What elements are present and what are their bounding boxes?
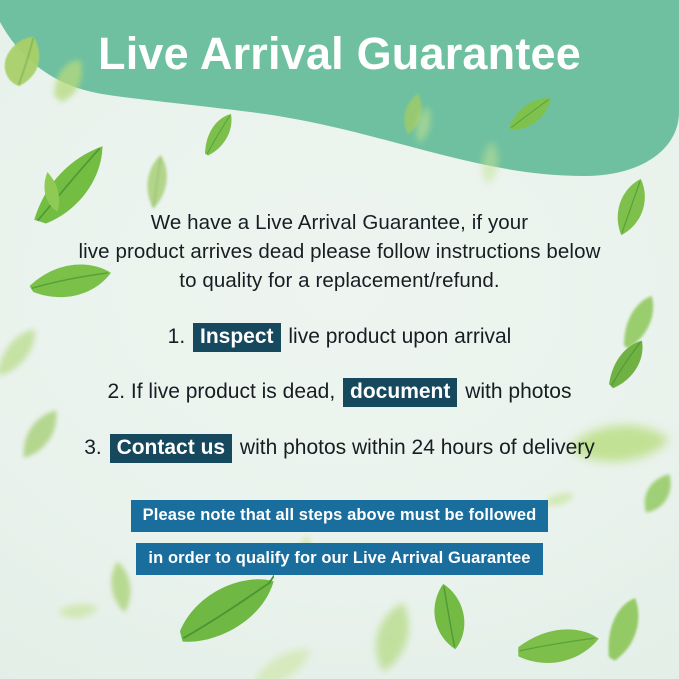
page-title: Live Arrival Guarantee [0, 30, 679, 77]
step-1-keyword: Inspect [193, 323, 281, 352]
step-item-3: 3. Contact us with photos within 24 hour… [30, 434, 649, 463]
content-area: We have a Live Arrival Guarantee, if you… [0, 0, 679, 679]
intro-paragraph: We have a Live Arrival Guarantee, if you… [60, 208, 619, 295]
note-row-2: in order to qualify for our Live Arrival… [0, 543, 679, 575]
step-1-text: live product upon arrival [288, 325, 511, 348]
step-2-number: 2. [108, 380, 126, 403]
live-arrival-guarantee-poster: Live Arrival Guarantee [0, 0, 679, 679]
note-box-2: in order to qualify for our Live Arrival… [136, 543, 542, 575]
step-2-pre-text: If live product is dead, [131, 380, 335, 403]
intro-line-1: We have a Live Arrival Guarantee, if you… [60, 208, 619, 237]
note-box-1: Please note that all steps above must be… [131, 500, 549, 532]
intro-line-3: to quality for a replacement/refund. [60, 266, 619, 295]
step-1-number: 1. [168, 325, 186, 348]
step-2-keyword: document [343, 378, 457, 407]
intro-line-2: live product arrives dead please follow … [60, 237, 619, 266]
step-3-number: 3. [84, 436, 102, 459]
step-2-text: with photos [465, 380, 571, 403]
step-3-keyword: Contact us [110, 434, 233, 463]
note-row-1: Please note that all steps above must be… [0, 500, 679, 532]
step-item-2: 2. If live product is dead, document wit… [30, 378, 649, 407]
step-item-1: 1. Inspect live product upon arrival [30, 323, 649, 352]
notes-section: Please note that all steps above must be… [0, 500, 679, 575]
step-3-text: with photos within 24 hours of delivery [240, 436, 595, 459]
